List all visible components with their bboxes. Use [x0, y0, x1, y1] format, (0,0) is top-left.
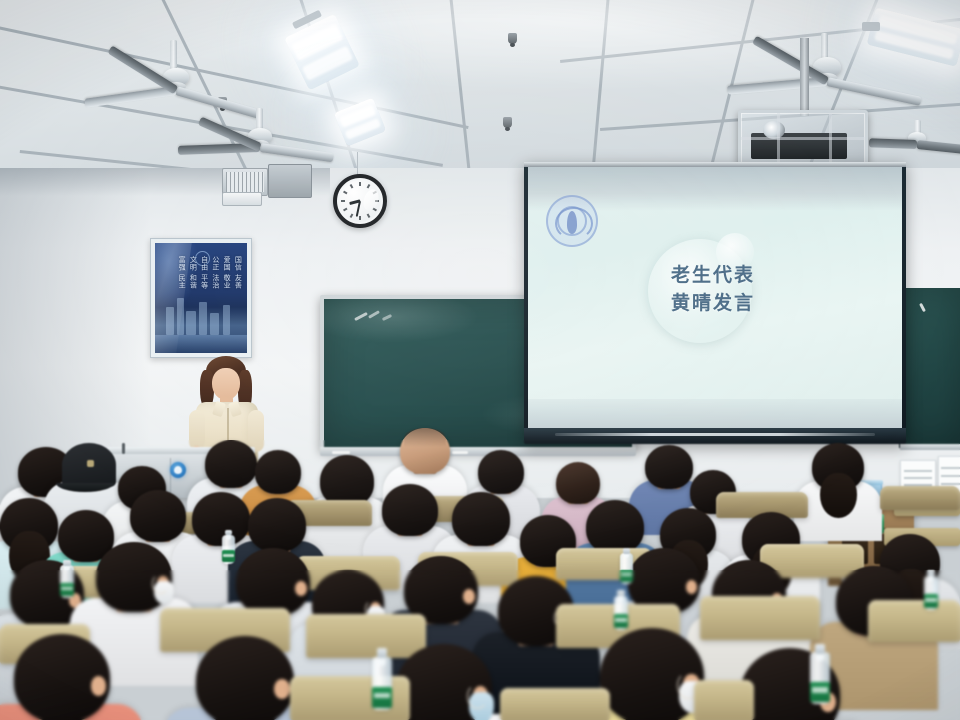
audience-member-head: [452, 492, 510, 546]
audience-member-head: [196, 636, 294, 720]
audience-member: [14, 634, 110, 720]
seat-back: [700, 596, 820, 640]
clock-hanging-wire: [357, 152, 358, 176]
audience-member-head: [556, 462, 600, 504]
audience-member-head: [382, 484, 438, 536]
ponytail: [820, 473, 856, 519]
ear: [463, 589, 475, 604]
slide-title-line-1: 老生代表: [648, 263, 778, 288]
poster-column: 国信 友善: [234, 256, 242, 289]
projector-mount-pole: [800, 38, 809, 116]
ear: [91, 676, 106, 695]
podium-microphone: [122, 443, 125, 454]
lecture-hall-photo: 国信 友善 爱国 敬业 公正 法治 自由 平等 文明 和谐 富强 民主: [0, 0, 960, 720]
projection-screen: 老生代表 黄晴发言: [524, 162, 906, 444]
water-bottle: [60, 560, 74, 598]
ceiling-sprinkler: [503, 117, 512, 128]
wall-poster-frame: 国信 友善 爱国 敬业 公正 法治 自由 平等 文明 和谐 富强 民主: [150, 238, 252, 358]
seat-back: [868, 600, 960, 642]
audience-member-head: [400, 428, 450, 474]
seat-back: [500, 688, 610, 720]
water-bottle: [372, 648, 392, 710]
poster-column: 爱国 敬业: [223, 256, 231, 289]
water-bottle: [810, 644, 830, 704]
poster-column: 文明 和谐: [189, 256, 197, 289]
poster-column: 公正 法治: [212, 256, 220, 289]
water-bottle: [222, 530, 235, 564]
seat-back: [694, 680, 754, 720]
audience-member-head: [478, 450, 524, 494]
audience-member-head: [130, 490, 186, 542]
ceiling-sprinkler: [508, 33, 517, 44]
slide-title-line-2: 黄晴发言: [648, 291, 778, 316]
ear: [295, 581, 307, 596]
baseball-cap: [62, 443, 116, 487]
audience-member-head: [192, 492, 250, 546]
wall-clock: [333, 174, 387, 228]
projected-slide: 老生代表 黄晴发言: [528, 167, 902, 428]
audience-member: [812, 443, 864, 544]
lectern-emblem-icon: [170, 462, 186, 478]
audience-member: [196, 636, 294, 720]
core-values-poster: 国信 友善 爱国 敬业 公正 法治 自由 平等 文明 和谐 富强 民主: [155, 243, 247, 353]
audience-member-head: [645, 445, 693, 489]
ear: [274, 679, 290, 699]
water-bottle: [620, 548, 633, 584]
seat-back: [880, 486, 960, 510]
audience-member: [396, 644, 492, 720]
poster-column: 自由 平等: [200, 256, 208, 289]
water-bottle: [614, 590, 628, 630]
audience-member-head: [205, 440, 257, 488]
wall-control-box: [268, 164, 312, 198]
wall-junction-box: [222, 192, 262, 206]
audience-member-head: [248, 498, 306, 552]
water-bottle: [924, 570, 938, 610]
audience-member: [600, 628, 704, 720]
seat-back: [290, 676, 410, 720]
side-chalkboard: [902, 288, 960, 448]
audience-member-head: [586, 500, 644, 554]
audience-member-head: [255, 450, 301, 494]
university-circular-emblem-icon: [546, 195, 598, 247]
